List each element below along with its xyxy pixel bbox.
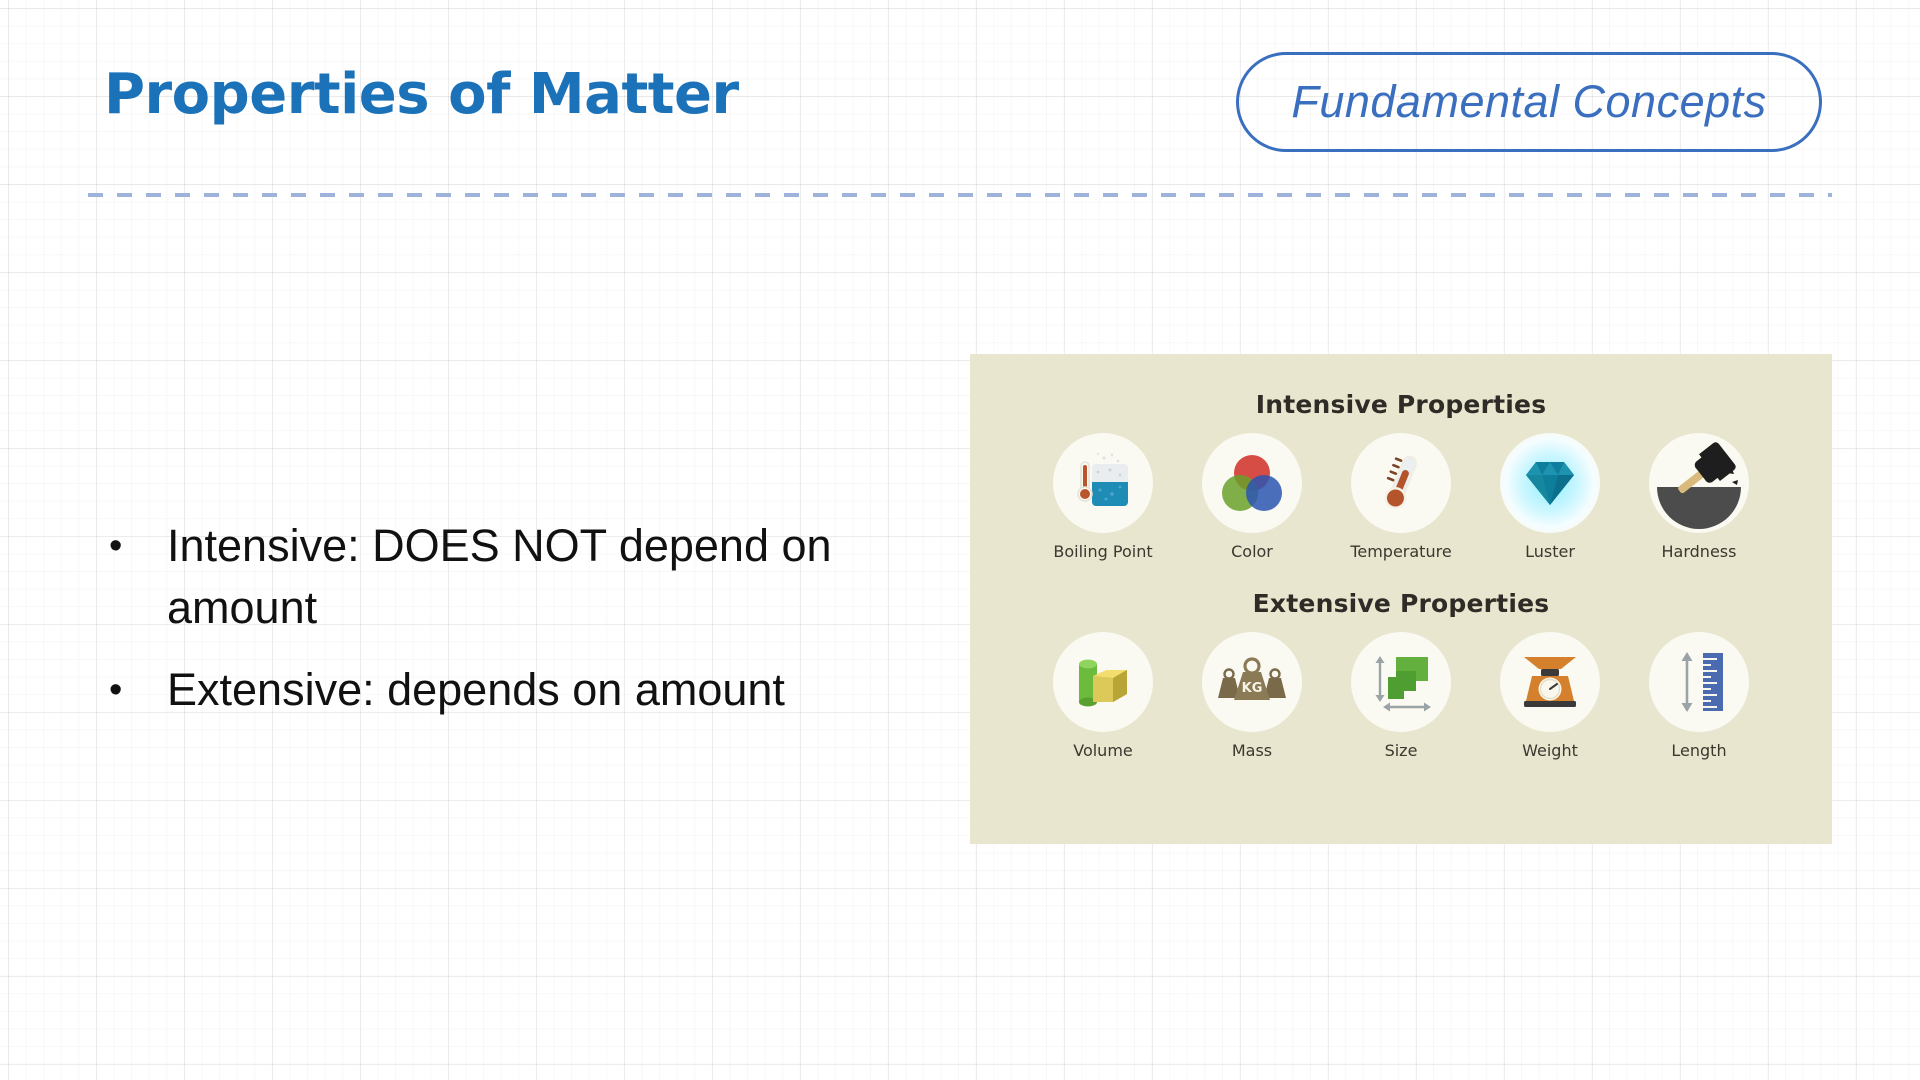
property-label: Temperature	[1350, 542, 1451, 561]
slide-canvas: Properties of Matter Fundamental Concept…	[0, 0, 1920, 1080]
list-item: • Intensive: DOES NOT depend on amount	[95, 515, 925, 639]
status-badge-label: Fundamental Concepts	[1291, 76, 1766, 128]
mass-icon-text: KG	[1242, 681, 1263, 696]
list-item: • Extensive: depends on amount	[95, 659, 925, 721]
property-label: Color	[1231, 542, 1273, 561]
header-divider	[88, 193, 1832, 197]
property-item-length: Length	[1643, 632, 1755, 760]
intensive-properties-row: Boiling Point Color	[970, 433, 1832, 561]
icon-disc	[1351, 433, 1451, 533]
extensive-properties-row: Volume KG Mass	[970, 632, 1832, 760]
property-label: Mass	[1232, 741, 1272, 760]
thermometer-icon	[1367, 449, 1435, 517]
cube-cylinder-icon	[1069, 648, 1137, 716]
property-label: Length	[1671, 741, 1726, 760]
property-label: Boiling Point	[1053, 542, 1152, 561]
property-item-size: Size	[1345, 632, 1457, 760]
icon-disc: KG	[1202, 632, 1302, 732]
status-badge: Fundamental Concepts	[1236, 52, 1822, 152]
dimension-arrows-icon	[1366, 647, 1436, 717]
icon-disc	[1500, 433, 1600, 533]
icon-disc	[1053, 433, 1153, 533]
icon-disc	[1649, 632, 1749, 732]
property-label: Hardness	[1662, 542, 1737, 561]
list-item-label: Intensive: DOES NOT depend on amount	[167, 515, 925, 639]
icon-disc	[1351, 632, 1451, 732]
property-item-weight: Weight	[1494, 632, 1606, 760]
property-item-temperature: Temperature	[1345, 433, 1457, 561]
property-item-hardness: Hardness	[1643, 433, 1755, 561]
hammer-rock-icon	[1653, 437, 1745, 529]
bullet-marker-icon: •	[95, 515, 167, 577]
property-item-mass: KG Mass	[1196, 632, 1308, 760]
property-label: Weight	[1522, 741, 1578, 760]
icon-disc	[1649, 433, 1749, 533]
diamond-glow-icon	[1520, 455, 1580, 511]
list-item-label: Extensive: depends on amount	[167, 659, 925, 721]
kg-weights-icon: KG	[1216, 650, 1288, 714]
property-item-color: Color	[1196, 433, 1308, 561]
ruler-icon	[1667, 647, 1731, 717]
property-item-volume: Volume	[1047, 632, 1159, 760]
page-title: Properties of Matter	[104, 62, 739, 127]
property-item-boiling-point: Boiling Point	[1047, 433, 1159, 561]
icon-disc	[1500, 632, 1600, 732]
property-item-luster: Luster	[1494, 433, 1606, 561]
intensive-properties-heading: Intensive Properties	[970, 390, 1832, 419]
property-label: Luster	[1525, 542, 1575, 561]
properties-infographic: Intensive Properties	[970, 354, 1832, 844]
kitchen-scale-icon	[1516, 649, 1584, 715]
property-label: Size	[1385, 741, 1418, 760]
bullet-marker-icon: •	[95, 659, 167, 721]
color-circles-icon	[1218, 449, 1286, 517]
icon-disc	[1202, 433, 1302, 533]
bullet-list: • Intensive: DOES NOT depend on amount •…	[95, 515, 925, 741]
property-label: Volume	[1073, 741, 1133, 760]
icon-disc	[1053, 632, 1153, 732]
extensive-properties-heading: Extensive Properties	[970, 589, 1832, 618]
beaker-thermometer-icon	[1068, 448, 1138, 518]
